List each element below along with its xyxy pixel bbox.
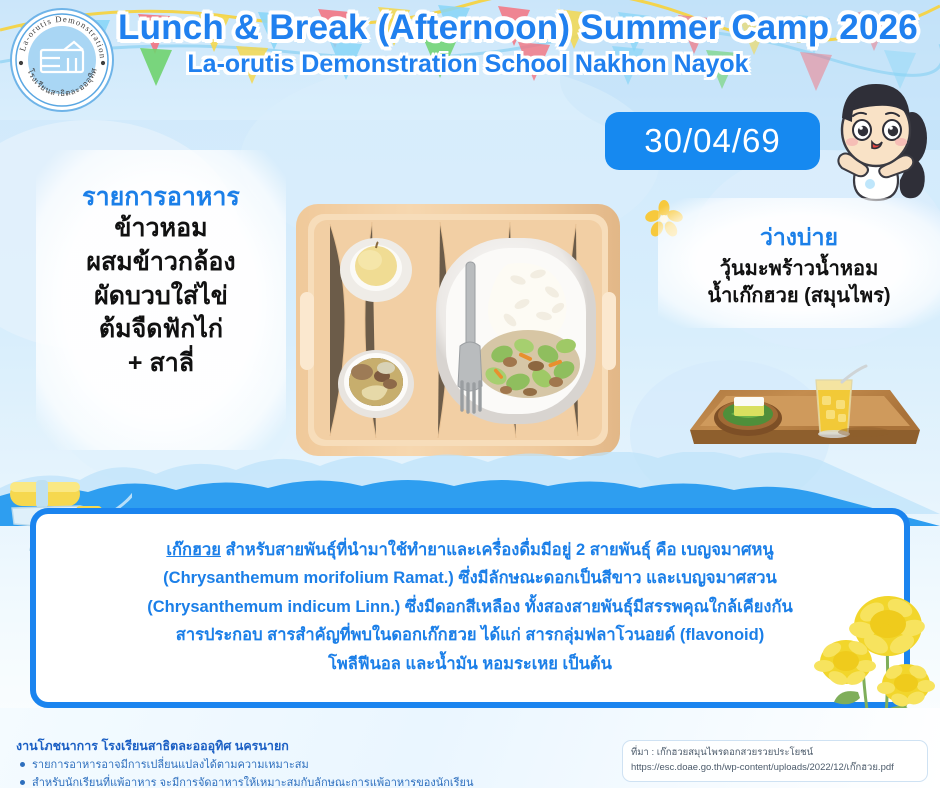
source-citation-box: ที่มา : เก๊กฮวยสมุนไพรดอกสวยรวยประโยชน์ … [622,740,928,782]
footer-notes-list: รายการอาหารอาจมีการเปลี่ยนแปลงได้ตามความ… [20,756,474,788]
info-line: (Chrysanthemum morifolium Ramat.) ซึ่งมี… [70,564,870,592]
lunch-menu-item: + สาลี่ [36,347,286,381]
bullet-icon [20,762,25,767]
school-seal-logo: La-orutis Demonstration School โรงเรียนส… [8,6,116,114]
source-url: https://esc.doae.go.th/wp-content/upload… [631,761,919,776]
lunch-tray-photo [290,196,626,466]
footer-note-text: สำหรับนักเรียนที่แพ้อาหาร จะมีการจัดอาหา… [32,774,474,788]
info-line: เก๊กฮวย สำหรับสายพันธุ์ที่นำมาใช้ทำยาและ… [70,536,870,564]
lunch-menu-heading: รายการอาหาร [36,182,286,212]
poster-title-block: Lunch & Break (Afternoon) Summer Camp 20… [118,8,818,79]
page-title: Lunch & Break (Afternoon) Summer Camp 20… [118,8,818,48]
footer-note-item: รายการอาหารอาจมีการเปลี่ยนแปลงได้ตามความ… [20,756,474,774]
footer-note-item: สำหรับนักเรียนที่แพ้อาหาร จะมีการจัดอาหา… [20,774,474,788]
lunch-menu-item: ผัดบวบใส่ไข่ [36,280,286,314]
snack-heading: ว่างบ่าย [658,220,940,256]
date-badge-value: 30/04/69 [644,122,780,160]
info-line-text: สำหรับสายพันธุ์ที่นำมาใช้ทำยาและเครื่องด… [221,541,774,559]
info-keyword: เก๊กฮวย [166,541,221,559]
lunch-menu-item: ต้มจืดฟักไก่ [36,313,286,347]
girl-character-illustration [812,72,940,208]
footer-note-text: รายการอาหารอาจมีการเปลี่ยนแปลงได้ตามความ… [32,756,309,774]
info-line: โพลีฟีนอล และน้ำมัน หอมระเหย เป็นต้น [70,650,870,678]
snack-item: น้ำเก๊กฮวย (สมุนไพร) [658,283,940,310]
info-line: สารประกอบ สารสำคัญที่พบในดอกเก๊กฮวย ได้แ… [70,621,870,649]
snack-item: วุ้นมะพร้าวน้ำหอม [658,256,940,283]
afternoon-snack-card: ว่างบ่าย วุ้นมะพร้าวน้ำหอม น้ำเก๊กฮวย (ส… [658,198,940,328]
source-title: ที่มา : เก๊กฮวยสมุนไพรดอกสวยรวยประโยชน์ [631,746,919,761]
footer-title: งานโภชนาการ โรงเรียนสาธิตละอออุทิศ นครนา… [16,736,289,756]
page-subtitle: La-orutis Demonstration School Nakhon Na… [118,50,818,79]
bullet-icon [20,780,25,785]
lunch-menu-card: รายการอาหาร ข้าวหอม ผสมข้าวกล้อง ผัดบวบใ… [36,150,286,450]
poster-root: La-orutis Demonstration School โรงเรียนส… [0,0,940,788]
date-badge: 30/04/69 [605,112,820,170]
lunch-menu-item: ผสมข้าวกล้อง [36,246,286,280]
snack-tray-photo [676,352,926,464]
herb-info-card: เก๊กฮวย สำหรับสายพันธุ์ที่นำมาใช้ทำยาและ… [30,508,910,708]
lunch-menu-item: ข้าวหอม [36,212,286,246]
info-line: (Chrysanthemum indicum Linn.) ซึ่งมีดอกส… [70,593,870,621]
